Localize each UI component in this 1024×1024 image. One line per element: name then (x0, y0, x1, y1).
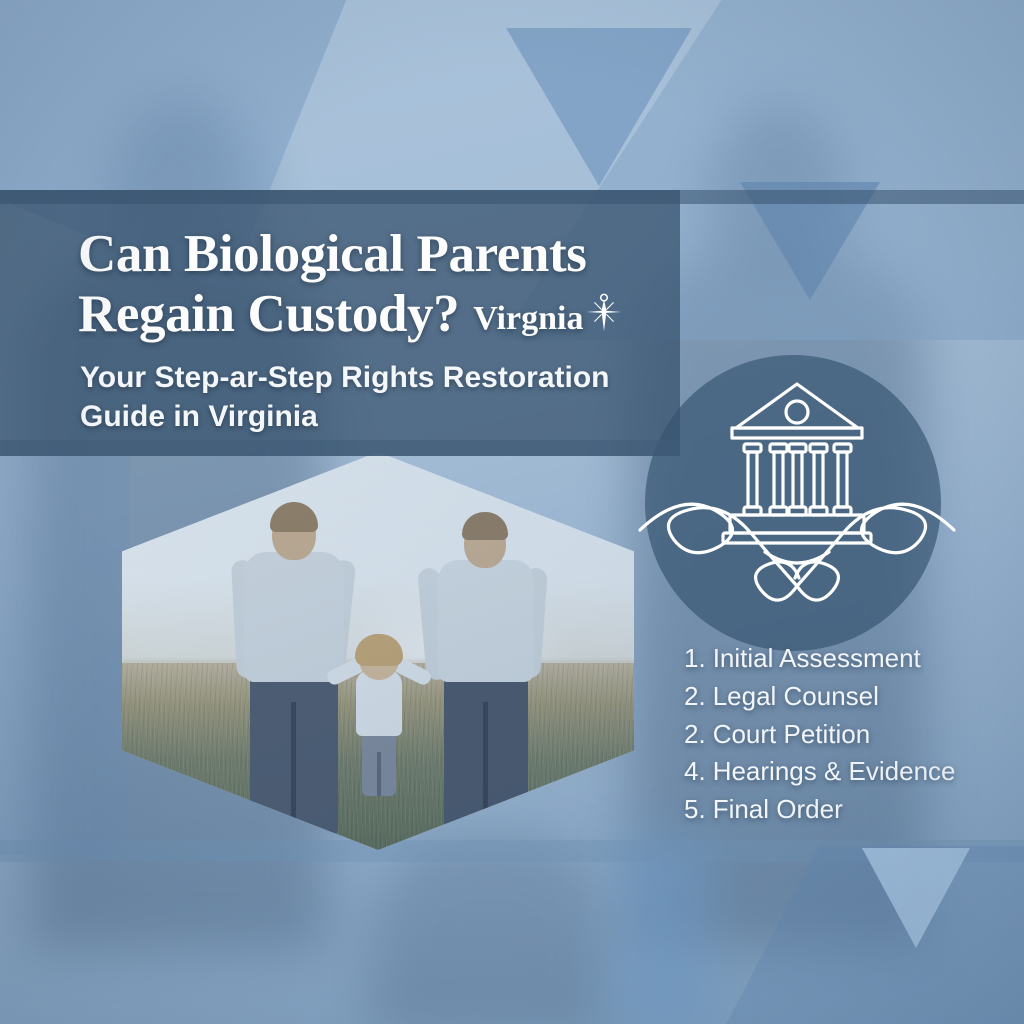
step-number: 1. (684, 643, 706, 673)
step-number: 2. (684, 681, 706, 711)
list-item: 1.Initial Assessment (684, 642, 994, 676)
page-subtitle: Your Step-ar-Step Rights Restoration Gui… (80, 358, 680, 436)
page-title: Can Biological Parents Regain Custody?Vi… (78, 224, 718, 345)
step-label: Hearings & Evidence (713, 756, 956, 786)
step-label: Final Order (713, 794, 843, 824)
facet-left-strip (0, 455, 130, 855)
subtitle-line-2: Guide in Virginia (80, 397, 680, 436)
step-label: Initial Assessment (713, 643, 921, 673)
headline-state: Virgnia (473, 300, 583, 337)
list-item: 4.Hearings & Evidence (684, 755, 994, 789)
step-label: Legal Counsel (713, 681, 879, 711)
step-number: 2. (684, 719, 706, 749)
list-item: 2.Legal Counsel (684, 680, 994, 714)
subtitle-line-1: Your Step-ar-Step Rights Restoration (80, 358, 680, 397)
headline-band-footer (0, 440, 680, 456)
courthouse-icon (632, 352, 962, 652)
list-item: 5.Final Order (684, 793, 994, 827)
steps-list: 1.Initial Assessment 2.Legal Counsel 2.C… (684, 642, 994, 831)
step-number: 4. (684, 756, 706, 786)
compass-star-icon (581, 289, 627, 335)
silhouette-center-body (370, 836, 610, 1024)
headline-line-2: Regain Custody? (78, 285, 459, 343)
step-label: Court Petition (713, 719, 871, 749)
poster-canvas: Can Biological Parents Regain Custody?Vi… (0, 0, 1024, 1024)
headline-line-1: Can Biological Parents (78, 225, 586, 283)
silhouette-blue-accent (620, 838, 710, 1024)
list-item: 2.Court Petition (684, 718, 994, 752)
step-number: 5. (684, 794, 706, 824)
